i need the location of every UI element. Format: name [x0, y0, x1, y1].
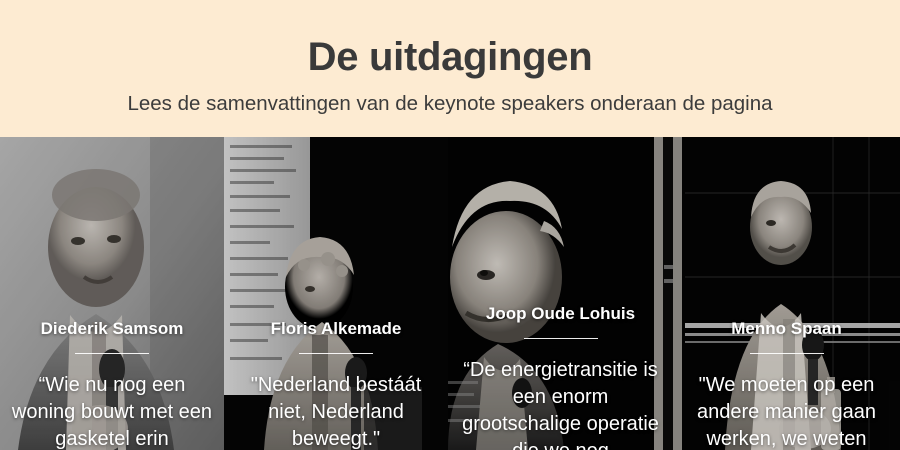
page-subtitle: Lees de samenvattingen van de keynote sp…: [0, 78, 900, 117]
speaker-name: Floris Alkemade: [234, 318, 438, 339]
speaker-card-body: Menno Spaan "We moeten op een andere man…: [673, 318, 900, 450]
speaker-name: Diederik Samsom: [10, 318, 214, 339]
speaker-card[interactable]: Joop Oude Lohuis “De energietransitie is…: [448, 137, 673, 450]
speaker-quote: “Wie nu nog een woning bouwt met een gas…: [10, 372, 214, 450]
speaker-name: Menno Spaan: [683, 318, 890, 339]
name-divider: [524, 338, 598, 339]
speaker-card-body: Joop Oude Lohuis “De energietransitie is…: [448, 303, 673, 450]
speakers-page: De uitdagingen Lees de samenvattingen va…: [0, 0, 900, 450]
speaker-name: Joop Oude Lohuis: [458, 303, 663, 324]
speaker-card[interactable]: Floris Alkemade "Nederland bestáát niet,…: [224, 137, 448, 450]
speaker-card[interactable]: Menno Spaan "We moeten op een andere man…: [673, 137, 900, 450]
name-divider: [75, 353, 149, 354]
speaker-card-strip: Diederik Samsom “Wie nu nog een woning b…: [0, 137, 900, 450]
page-header: De uitdagingen Lees de samenvattingen va…: [0, 0, 900, 137]
speaker-card[interactable]: Diederik Samsom “Wie nu nog een woning b…: [0, 137, 224, 450]
speaker-card-body: Diederik Samsom “Wie nu nog een woning b…: [0, 318, 224, 450]
name-divider: [750, 353, 824, 354]
speaker-quote: “De energietransitie is een enorm groots…: [458, 357, 663, 450]
speaker-quote: "We moeten op een andere manier gaan wer…: [683, 372, 890, 450]
page-title: De uitdagingen: [0, 0, 900, 78]
speaker-card-body: Floris Alkemade "Nederland bestáát niet,…: [224, 318, 448, 450]
speaker-quote: "Nederland bestáát niet, Nederland bewee…: [234, 372, 438, 450]
name-divider: [299, 353, 373, 354]
